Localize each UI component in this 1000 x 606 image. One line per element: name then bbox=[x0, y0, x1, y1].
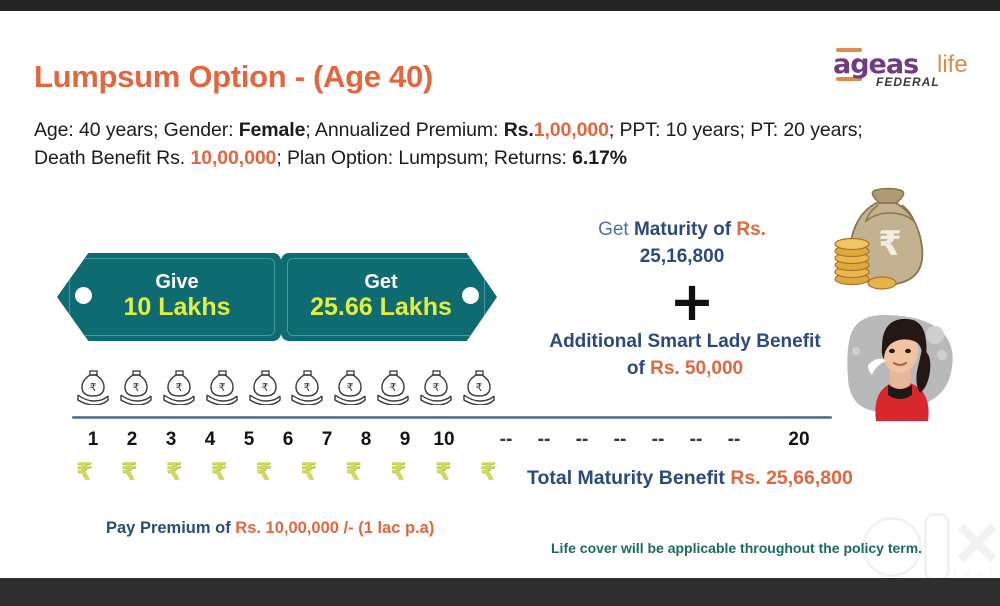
timeline-gap-dash: -- bbox=[652, 429, 665, 451]
policy-details-line-1: Age: 40 years; Gender: Female; Annualize… bbox=[34, 119, 863, 142]
get-tag-hole bbox=[462, 287, 479, 304]
get-tag: Get 25.66 Lakhs bbox=[281, 253, 497, 341]
hand-with-money-bag-icon: ₹ bbox=[119, 369, 153, 405]
timeline-year-4: 4 bbox=[205, 429, 216, 451]
timeline-year-10: 10 bbox=[433, 429, 454, 451]
hand-with-money-bag-icon: ₹ bbox=[205, 369, 239, 405]
maturity-get-word: Get bbox=[598, 219, 634, 240]
rupee-symbol-icon: ₹ bbox=[300, 461, 316, 484]
maturity-label: Maturity of bbox=[634, 219, 736, 240]
timeline-year-7: 7 bbox=[322, 429, 333, 451]
rupee-symbol-icon: ₹ bbox=[211, 461, 227, 484]
watermark-x-shape bbox=[958, 524, 996, 562]
timeline-gap-dash: -- bbox=[614, 429, 627, 451]
hand-with-money-bag-icon: ₹ bbox=[419, 369, 453, 405]
svg-text:₹: ₹ bbox=[433, 381, 440, 394]
rupee-symbol-icon: ₹ bbox=[345, 461, 361, 484]
get-tag-label: Get bbox=[364, 272, 397, 293]
get-tag-value: 25.66 Lakhs bbox=[310, 293, 452, 322]
timeline-year-3: 3 bbox=[166, 429, 177, 451]
total-maturity-value: Rs. 25,66,800 bbox=[730, 467, 853, 489]
svg-text:₹: ₹ bbox=[261, 381, 268, 394]
timeline-year-5: 5 bbox=[244, 429, 255, 451]
rupee-symbol-icon: ₹ bbox=[166, 461, 182, 484]
premium-currency: Rs. bbox=[504, 119, 534, 141]
plan-option-label: ; Plan Option: Lumpsum; Returns: bbox=[276, 147, 572, 169]
rupee-symbol-icon: ₹ bbox=[121, 461, 137, 484]
pay-premium-caption: Pay Premium of Rs. 10,00,000 /- (1 lac p… bbox=[106, 519, 434, 538]
timeline-gap-dash: -- bbox=[538, 429, 551, 451]
timeline-gap-dash: -- bbox=[690, 429, 703, 451]
hand-with-money-bag-icon: ₹ bbox=[333, 369, 367, 405]
ppt-pt-text: ; PPT: 10 years; PT: 20 years; bbox=[609, 119, 863, 141]
watermark-india-label: I N D I A bbox=[954, 571, 1000, 578]
logo-federal-word: FEDERAL bbox=[876, 75, 940, 89]
hand-with-money-bag-icon: ₹ bbox=[76, 369, 110, 405]
smart-lady-illustration bbox=[838, 311, 960, 423]
maturity-currency: Rs. bbox=[736, 219, 766, 240]
returns-value: 6.17% bbox=[572, 147, 627, 169]
svg-text:₹: ₹ bbox=[175, 381, 182, 394]
svg-text:₹: ₹ bbox=[304, 381, 311, 394]
svg-text:₹: ₹ bbox=[218, 381, 225, 394]
timeline-gap-dash: -- bbox=[576, 429, 589, 451]
watermark-l-shape bbox=[924, 513, 950, 578]
give-tag-hole bbox=[75, 287, 92, 304]
svg-text:₹: ₹ bbox=[90, 381, 97, 394]
smart-lady-line: of Rs. 50,000 bbox=[520, 356, 850, 383]
hand-with-money-bag-icon: ₹ bbox=[462, 369, 496, 405]
maturity-benefit-line: Get Maturity of Rs. bbox=[512, 217, 852, 244]
smart-lady-label: Additional Smart Lady Benefit bbox=[520, 329, 850, 356]
timeline-year-20: 20 bbox=[788, 429, 809, 451]
timeline-gap-dash: -- bbox=[500, 429, 513, 451]
svg-text:₹: ₹ bbox=[878, 224, 902, 264]
rupee-symbol-icon: ₹ bbox=[256, 461, 272, 484]
timeline-year-8: 8 bbox=[361, 429, 372, 451]
logo-life-word: life bbox=[937, 53, 968, 77]
hand-with-money-bag-icon: ₹ bbox=[290, 369, 324, 405]
premium-label: ; Annualized Premium: bbox=[305, 119, 503, 141]
give-tag-value: 10 Lakhs bbox=[123, 293, 230, 322]
give-tag-label: Give bbox=[155, 272, 198, 293]
bottom-letterbox-bar bbox=[0, 578, 1000, 606]
top-letterbox-bar bbox=[0, 0, 1000, 11]
smart-lady-amount: Rs. 50,000 bbox=[650, 358, 743, 379]
maturity-benefit-block: Get Maturity of Rs. 25,16,800 bbox=[512, 217, 852, 271]
timeline-gap-dash: -- bbox=[728, 429, 741, 451]
timeline-year-1: 1 bbox=[88, 429, 99, 451]
give-tag: Give 10 Lakhs bbox=[57, 253, 281, 341]
svg-text:₹: ₹ bbox=[475, 381, 482, 394]
hand-with-money-bag-icon: ₹ bbox=[162, 369, 196, 405]
death-benefit-value: 10,00,000 bbox=[190, 147, 276, 169]
presentation-slide: I N D I A ageas life FEDERAL Lumpsum Opt… bbox=[0, 11, 1000, 578]
rupee-symbol-icon: ₹ bbox=[480, 461, 496, 484]
maturity-amount: 25,16,800 bbox=[512, 244, 852, 271]
premium-value: 1,00,000 bbox=[534, 119, 609, 141]
timeline-year-labels: 12345678910--------------20 bbox=[72, 429, 832, 457]
svg-text:₹: ₹ bbox=[347, 381, 354, 394]
pay-premium-value: Rs. 10,00,000 /- (1 lac p.a) bbox=[235, 519, 434, 537]
smart-lady-benefit-block: Additional Smart Lady Benefit of Rs. 50,… bbox=[520, 329, 850, 383]
rupee-symbol-icon: ₹ bbox=[76, 461, 92, 484]
watermark-x-shape bbox=[958, 524, 996, 562]
plus-sign: + bbox=[660, 275, 724, 329]
rupee-symbol-icon: ₹ bbox=[390, 461, 406, 484]
total-maturity-benefit-caption: Total Maturity Benefit Rs. 25,66,800 bbox=[527, 467, 853, 490]
rupee-symbol-icon: ₹ bbox=[435, 461, 451, 484]
policy-details-line-2: Death Benefit Rs. 10,00,000; Plan Option… bbox=[34, 147, 627, 170]
screenshot-frame: I N D I A ageas life FEDERAL Lumpsum Opt… bbox=[0, 0, 1000, 606]
timeline-axis bbox=[72, 416, 832, 419]
life-cover-note: Life cover will be applicable throughout… bbox=[551, 540, 922, 556]
premium-rupee-row: ₹₹₹₹₹₹₹₹₹₹ bbox=[76, 457, 496, 487]
timeline-year-2: 2 bbox=[127, 429, 138, 451]
svg-text:₹: ₹ bbox=[132, 381, 139, 394]
timeline-year-9: 9 bbox=[400, 429, 411, 451]
premium-payment-icons-row: ₹ ₹ ₹ ₹ ₹ ₹ ₹ ₹ ₹ ₹ bbox=[76, 367, 496, 407]
pay-premium-label: Pay Premium of bbox=[106, 519, 235, 537]
gender-value: Female bbox=[239, 119, 306, 141]
logo-wordmark: ageas bbox=[833, 51, 918, 78]
ageas-federal-life-logo: ageas life FEDERAL bbox=[833, 47, 993, 91]
death-benefit-label: Death Benefit Rs. bbox=[34, 147, 190, 169]
total-maturity-label: Total Maturity Benefit bbox=[527, 467, 730, 489]
svg-text:₹: ₹ bbox=[390, 381, 397, 394]
smart-lady-of-word: of bbox=[627, 358, 650, 379]
hand-with-money-bag-icon: ₹ bbox=[376, 369, 410, 405]
money-bag-icon: ₹ bbox=[830, 183, 938, 293]
hand-with-money-bag-icon: ₹ bbox=[248, 369, 282, 405]
age-gender-label: Age: 40 years; Gender: bbox=[34, 119, 239, 141]
page-title: Lumpsum Option - (Age 40) bbox=[34, 59, 433, 95]
timeline-year-6: 6 bbox=[283, 429, 294, 451]
